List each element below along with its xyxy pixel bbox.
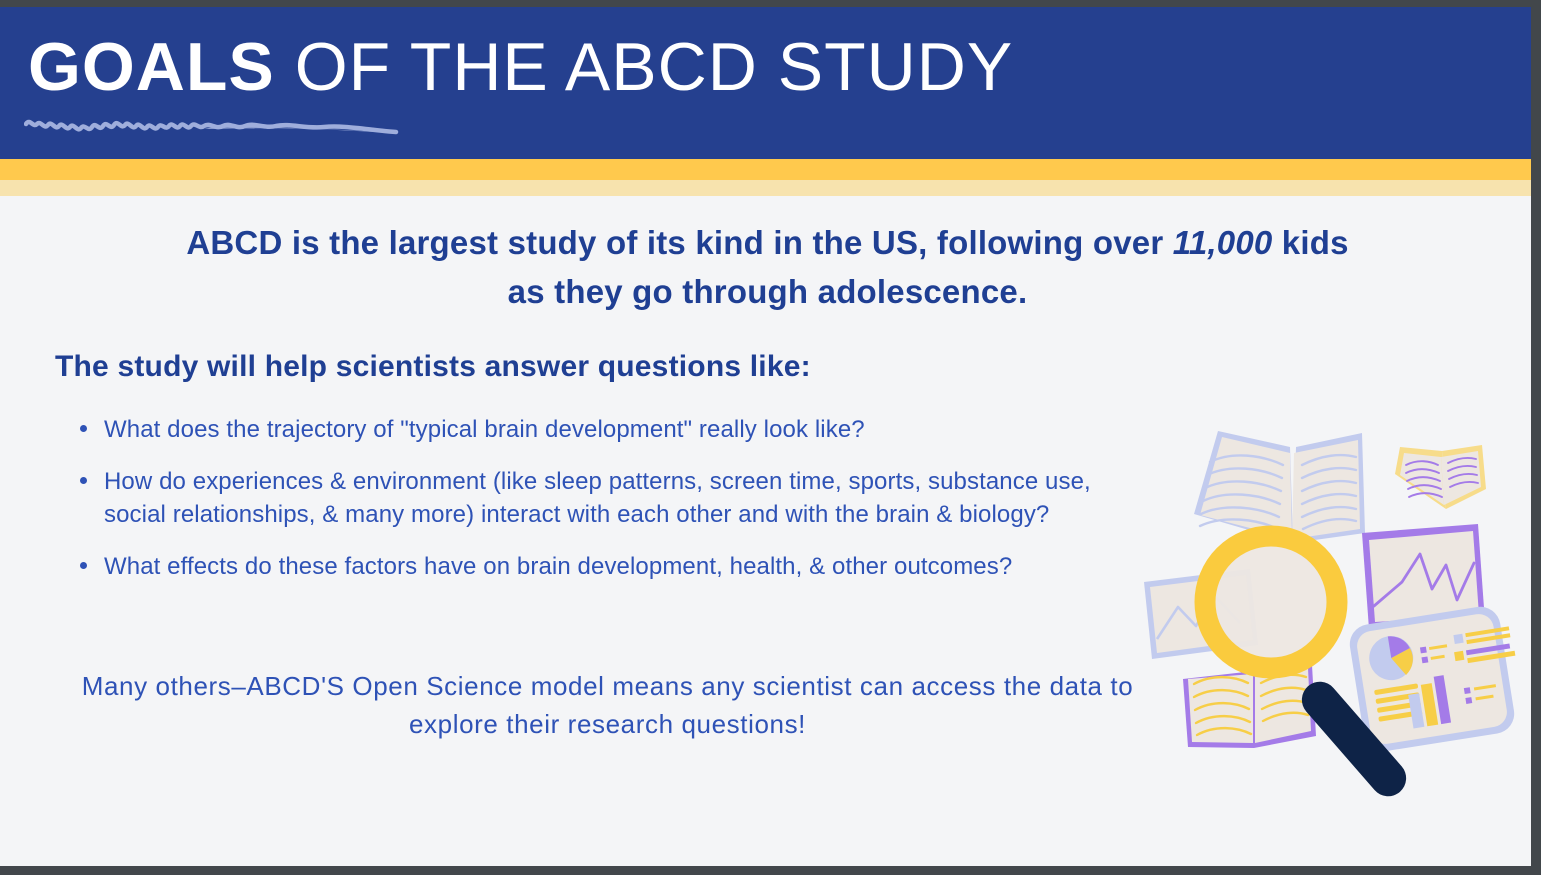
bullet-dot-icon [80,562,87,569]
accent-band-cream [0,180,1531,196]
list-item-label: How do experiences & environment (like s… [104,468,1091,528]
list-item: What effects do these factors have on br… [78,551,1148,584]
slide-canvas: GOALS OF THE ABCD STUDY ABCD is the larg… [0,7,1531,866]
research-magnifying-glass-illustration [1130,407,1530,827]
list-item-label: What does the trajectory of "typical bra… [104,416,865,443]
dashboard-tablet [1347,604,1524,754]
body-area: ABCD is the largest study of its kind in… [0,196,1531,866]
wavy-underline-icon [24,115,404,141]
page-title: GOALS OF THE ABCD STUDY [28,33,1013,101]
list-item: What does the trajectory of "typical bra… [78,414,1148,447]
closing-statement: Many others–ABCD'S Open Science model me… [70,668,1145,743]
open-book-small-yellow [1395,445,1486,509]
lede-part-a: ABCD is the largest study of its kind in… [186,224,1172,261]
bullet-dot-icon [80,425,87,432]
accent-band-yellow [0,159,1531,180]
header-band: GOALS OF THE ABCD STUDY [0,7,1531,159]
page-title-bold: GOALS [28,29,275,105]
list-item-label: What effects do these factors have on br… [104,553,1012,580]
slide-root: GOALS OF THE ABCD STUDY ABCD is the larg… [0,0,1541,875]
frame-top-border [0,0,1541,7]
frame-bottom-border [0,866,1541,875]
lede-statement: ABCD is the largest study of its kind in… [180,219,1355,317]
bullet-dot-icon [80,477,87,484]
frame-right-border [1531,0,1541,875]
list-item: How do experiences & environment (like s… [78,466,1148,532]
lede-number: 11,000 [1173,224,1273,261]
page-title-rest: OF THE ABCD STUDY [275,29,1013,105]
section-subheading: The study will help scientists answer qu… [55,350,811,384]
open-book-bottom-purple [1183,665,1316,748]
question-list: What does the trajectory of "typical bra… [78,414,1148,603]
